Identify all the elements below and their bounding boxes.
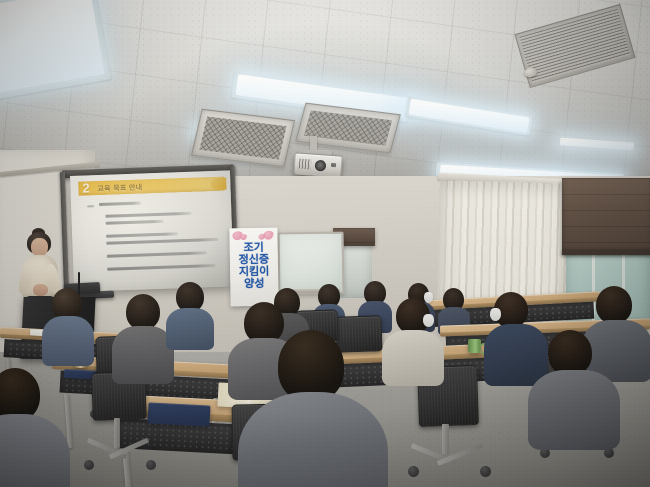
roller-shade-bottom-bar (562, 250, 650, 255)
projector-indicator (331, 163, 336, 167)
chair-caster (408, 466, 419, 477)
slide-body-line (107, 251, 207, 257)
projection-screen: 2 교육 목표 안내 (70, 170, 234, 292)
attendee-torso (166, 308, 214, 350)
seminar-room-photo: 2 교육 목표 안내 조기 정신증 지킴이 (0, 0, 650, 487)
attendee-head (596, 286, 632, 324)
chair-caster (146, 460, 156, 470)
presenter-hands (33, 284, 48, 296)
training-poster: 조기 정신증 지킴이 양성 (229, 228, 278, 307)
projector-vent (299, 159, 312, 170)
presentation-slide: 2 교육 목표 안내 (70, 170, 234, 292)
slide-bullet-marker (87, 205, 94, 207)
poster-line-4: 양성 (230, 278, 278, 291)
poster-floral-decoration (258, 234, 265, 240)
slide-body-line (106, 220, 164, 225)
slide-title: 교육 목표 안내 (97, 180, 207, 194)
air-conditioner-grille (304, 110, 392, 145)
attendee-head (126, 294, 160, 330)
attendee-face-mask (424, 292, 433, 303)
chair-post (114, 418, 120, 448)
slide-body-line (99, 202, 141, 206)
air-conditioner-grille (199, 116, 286, 159)
slide-header-corner-accent (210, 178, 226, 191)
attendee-face-mask (423, 314, 434, 327)
brown-roller-shade (562, 178, 650, 254)
chair-caster (84, 460, 94, 470)
slide-body-line (106, 238, 218, 245)
chair-backrest (335, 315, 382, 353)
projector-lens (315, 160, 327, 172)
poster-text-block: 조기 정신증 지킴이 양성 (230, 243, 279, 291)
attendee-torso (528, 370, 620, 450)
attendee-torso (112, 326, 174, 384)
attendee-face-mask (490, 308, 501, 321)
attendee-torso (484, 324, 548, 386)
slide-body-line (107, 264, 215, 271)
slide-body-line (105, 212, 191, 218)
chair-post (442, 424, 449, 454)
attendee-torso (42, 316, 94, 366)
poster-floral-decoration (240, 234, 247, 240)
slide-body-line (106, 232, 178, 238)
chair-caster (480, 466, 491, 477)
slide-header-band: 2 교육 목표 안내 (78, 177, 224, 196)
attendee-torso (382, 330, 444, 386)
microphone-stand (78, 272, 80, 296)
slide-number: 2 (82, 181, 90, 194)
ceiling-projector (293, 152, 342, 177)
navy-notebook (147, 402, 210, 426)
